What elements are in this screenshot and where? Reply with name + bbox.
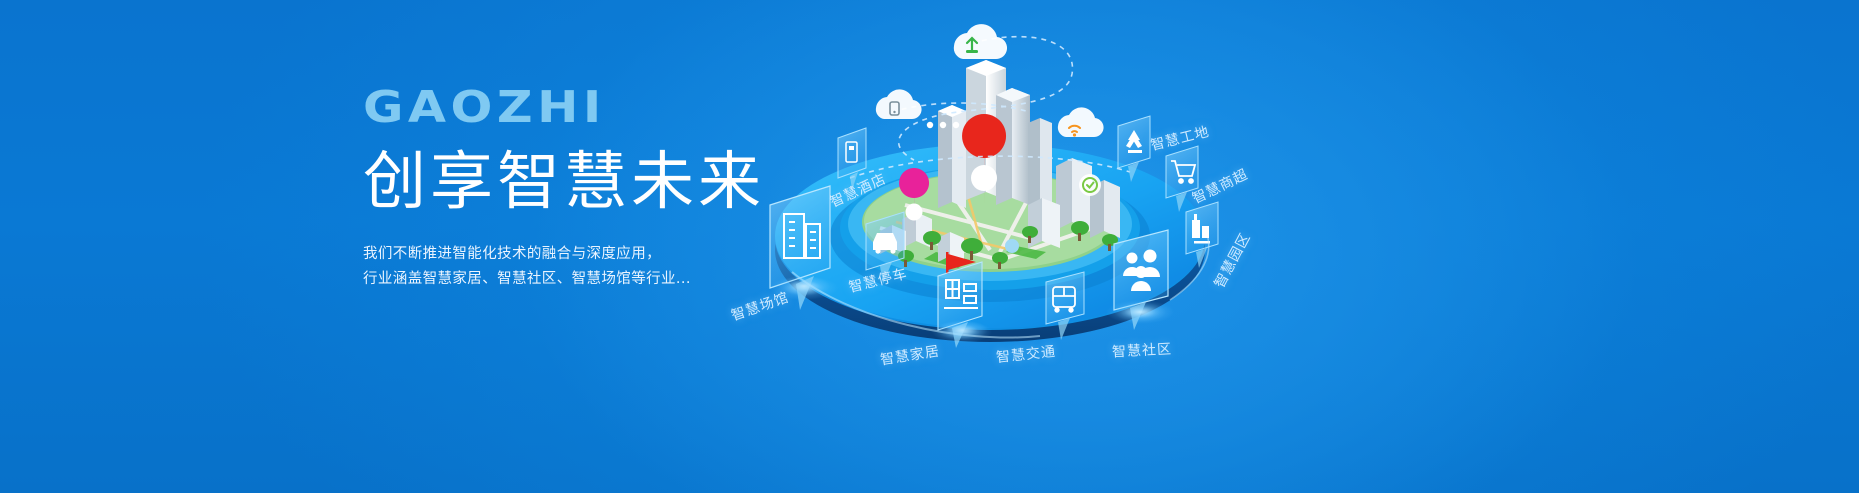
map-pin-flag-pole bbox=[946, 252, 949, 274]
hero-banner: GAOZHI 创享智慧未来 我们不断推进智能化技术的融合与深度应用， 行业涵盖智… bbox=[0, 0, 1859, 493]
ring-glow-right bbox=[1114, 302, 1166, 322]
label-community: 智慧社区 bbox=[1112, 338, 1173, 361]
plaza-dome bbox=[1005, 239, 1019, 253]
cloud-device-icon bbox=[876, 89, 922, 119]
cloud-upload-icon bbox=[954, 24, 1007, 59]
platform-node-green bbox=[1079, 174, 1101, 196]
data-dots bbox=[927, 122, 959, 128]
ring-glow-mid bbox=[936, 320, 988, 340]
tower-d bbox=[1028, 118, 1052, 207]
tower-c bbox=[938, 105, 966, 208]
smart-city-illustration: 智慧场馆 智慧酒店 智慧停车 智慧家居 智慧交通 智慧社区 智慧园区 智慧商超 … bbox=[700, 0, 1400, 493]
